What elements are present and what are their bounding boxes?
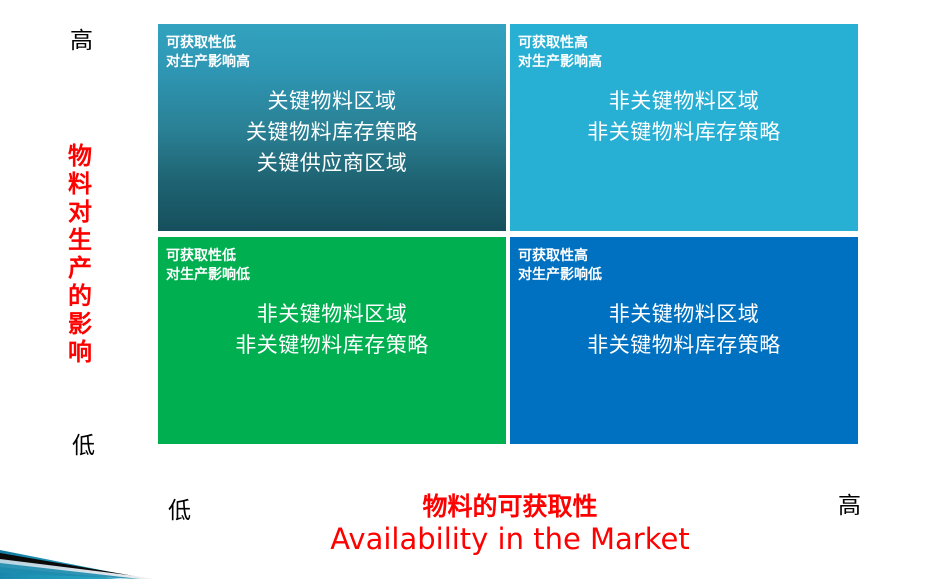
- quadrant-body: 关键物料区域 关键物料库存策略 关键供应商区域: [166, 86, 506, 179]
- quadrant-bottom-left[interactable]: 可获取性低 对生产影响低 非关键物料区域 非关键物料库存策略: [158, 237, 506, 444]
- quadrant-bottom-right[interactable]: 可获取性高 对生产影响低 非关键物料区域 非关键物料库存策略: [510, 237, 858, 444]
- quadrant-body-line: 关键物料区域: [166, 86, 498, 117]
- quadrant-body-line: 关键供应商区域: [166, 148, 498, 179]
- quadrant-body-line: 非关键物料区域: [518, 299, 850, 330]
- slide-canvas: 高 低 物 料 对 生 产 的 影 响 可获取性低 对生产影响高 关键物料区域 …: [0, 0, 951, 579]
- x-axis-title: 物料的可获取性 Availability in the Market: [160, 492, 860, 556]
- y-axis-title-char: 响: [60, 338, 100, 366]
- quadrant-body-line: 非关键物料库存策略: [166, 330, 498, 361]
- quadrant-corner-label-line1: 可获取性低: [166, 248, 236, 264]
- quadrant-matrix: 可获取性低 对生产影响高 关键物料区域 关键物料库存策略 关键供应商区域 可获取…: [158, 24, 858, 444]
- quadrant-body-line: 非关键物料区域: [166, 299, 498, 330]
- quadrant-body-line: 非关键物料库存策略: [518, 117, 850, 148]
- quadrant-corner-label-line2: 对生产影响低: [166, 267, 250, 283]
- quadrant-body: 非关键物料区域 非关键物料库存策略: [518, 86, 858, 148]
- quadrant-body-line: 非关键物料库存策略: [518, 330, 850, 361]
- quadrant-corner-label: 可获取性高 对生产影响低: [518, 247, 858, 285]
- quadrant-body-line: 关键物料库存策略: [166, 117, 498, 148]
- x-axis-title-en: Availability in the Market: [160, 522, 860, 556]
- y-axis-low-label: 低: [72, 435, 95, 458]
- x-axis-title-cn: 物料的可获取性: [160, 492, 860, 522]
- quadrant-corner-label-line1: 可获取性低: [166, 35, 236, 51]
- quadrant-corner-label-line1: 可获取性高: [518, 35, 588, 51]
- y-axis-title-char: 产: [60, 254, 100, 282]
- quadrant-body: 非关键物料区域 非关键物料库存策略: [518, 299, 858, 361]
- quadrant-body-line: 非关键物料区域: [518, 86, 850, 117]
- quadrant-corner-label-line2: 对生产影响高: [518, 54, 602, 70]
- quadrant-corner-label-line1: 可获取性高: [518, 248, 588, 264]
- quadrant-corner-label-line2: 对生产影响高: [166, 54, 250, 70]
- quadrant-corner-label-line2: 对生产影响低: [518, 267, 602, 283]
- y-axis-title-char: 生: [60, 226, 100, 254]
- quadrant-corner-label: 可获取性高 对生产影响高: [518, 34, 858, 72]
- y-axis-title-char: 影: [60, 310, 100, 338]
- y-axis-title-char: 的: [60, 282, 100, 310]
- y-axis-title: 物 料 对 生 产 的 影 响: [60, 142, 100, 366]
- quadrant-top-right[interactable]: 可获取性高 对生产影响高 非关键物料区域 非关键物料库存策略: [510, 24, 858, 231]
- y-axis-title-char: 对: [60, 198, 100, 226]
- quadrant-corner-label: 可获取性低 对生产影响高: [166, 34, 506, 72]
- quadrant-body: 非关键物料区域 非关键物料库存策略: [166, 299, 506, 361]
- quadrant-top-left[interactable]: 可获取性低 对生产影响高 关键物料区域 关键物料库存策略 关键供应商区域: [158, 24, 506, 231]
- y-axis-high-label: 高: [70, 30, 93, 53]
- quadrant-corner-label: 可获取性低 对生产影响低: [166, 247, 506, 285]
- y-axis-title-char: 物: [60, 142, 100, 170]
- y-axis-title-char: 料: [60, 170, 100, 198]
